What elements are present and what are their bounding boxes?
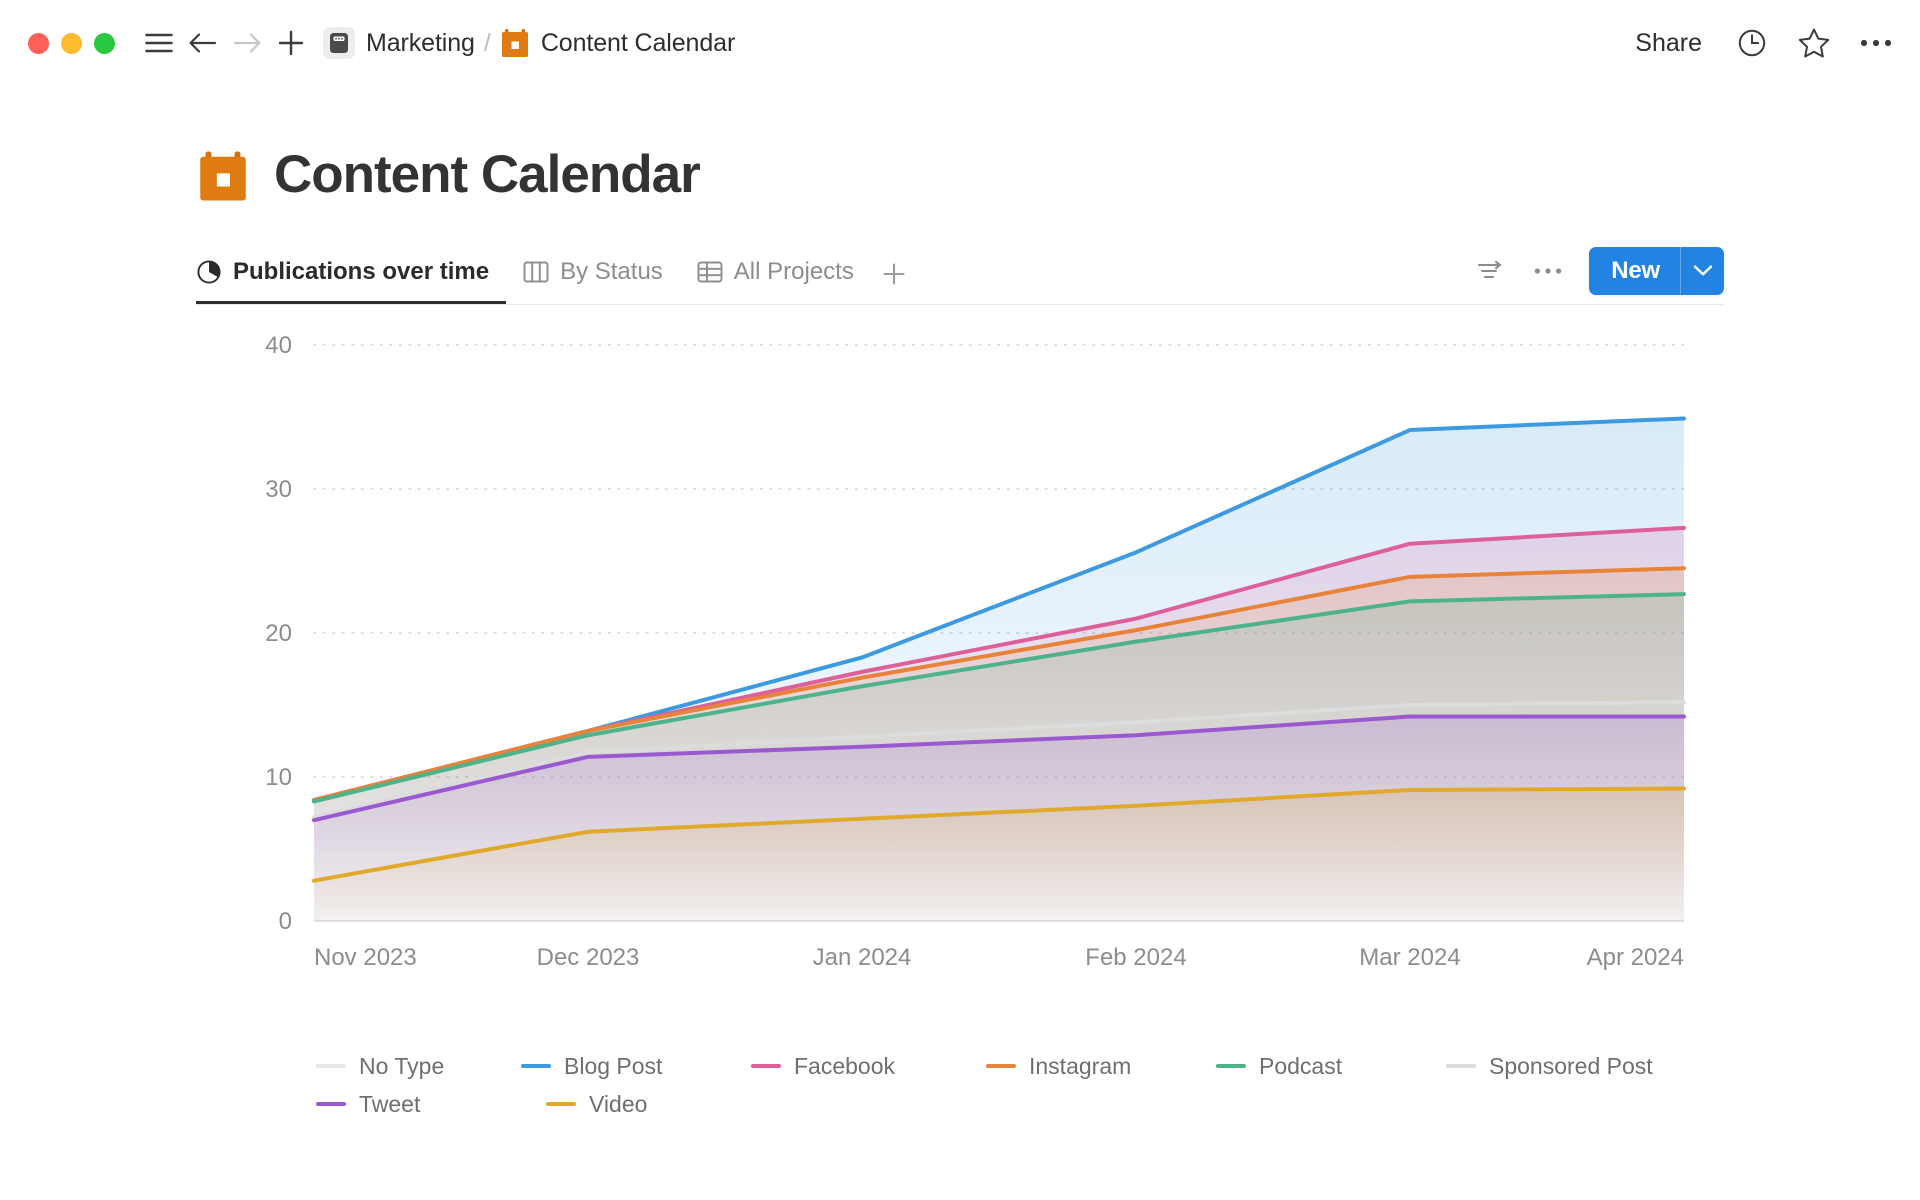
legend-swatch-tweet xyxy=(316,1102,346,1106)
breadcrumb: Marketing / Content Calendar xyxy=(323,27,735,59)
breadcrumb-item-marketing[interactable]: Marketing xyxy=(323,27,475,59)
legend-swatch-video xyxy=(546,1102,576,1106)
svg-text:0: 0 xyxy=(279,908,292,935)
svg-text:Apr 2024: Apr 2024 xyxy=(1587,944,1684,971)
tab-all-projects[interactable]: All Projects xyxy=(680,243,871,304)
legend-item-instagram[interactable]: Instagram xyxy=(986,1047,1216,1085)
legend-item-no-type[interactable]: No Type xyxy=(316,1047,521,1085)
legend-label-podcast: Podcast xyxy=(1259,1053,1342,1080)
tab-label-publications-over-time: Publications over time xyxy=(233,258,489,286)
ellipsis-icon[interactable] xyxy=(1858,25,1894,61)
clock-icon[interactable] xyxy=(1734,25,1770,61)
legend-item-blog-post[interactable]: Blog Post xyxy=(521,1047,751,1085)
legend-label-video: Video xyxy=(589,1091,647,1118)
legend-swatch-instagram xyxy=(986,1064,1016,1068)
titlebar-actions: Share xyxy=(1629,25,1894,62)
add-view-plus-icon[interactable] xyxy=(871,243,917,304)
forward-arrow-icon[interactable] xyxy=(225,21,269,65)
legend-swatch-facebook xyxy=(751,1064,781,1068)
legend-item-tweet[interactable]: Tweet xyxy=(316,1085,546,1123)
chart-pie-icon xyxy=(196,259,222,285)
share-button[interactable]: Share xyxy=(1629,25,1708,62)
page-header: Content Calendar xyxy=(0,86,1920,205)
chart-container: 010203040Nov 2023Dec 2023Jan 2024Feb 202… xyxy=(196,331,1724,1123)
legend-swatch-sponsored-post xyxy=(1446,1064,1476,1068)
svg-text:Feb 2024: Feb 2024 xyxy=(1085,944,1186,971)
tab-label-by-status: By Status xyxy=(560,258,663,286)
svg-text:Dec 2023: Dec 2023 xyxy=(537,944,640,971)
workspace-icon xyxy=(323,27,355,59)
legend-item-facebook[interactable]: Facebook xyxy=(751,1047,986,1085)
zoom-window-button[interactable] xyxy=(94,33,115,54)
calendar-emoji xyxy=(196,148,250,202)
breadcrumb-separator: / xyxy=(484,29,491,58)
svg-text:Nov 2023: Nov 2023 xyxy=(314,944,417,971)
window-titlebar: Marketing / Content Calendar Share xyxy=(0,0,1920,86)
sidebar-toggle-icon[interactable] xyxy=(137,21,181,65)
svg-text:30: 30 xyxy=(265,476,292,503)
breadcrumb-item-content-calendar[interactable]: Content Calendar xyxy=(500,27,735,59)
close-window-button[interactable] xyxy=(28,33,49,54)
filter-icon[interactable] xyxy=(1473,254,1507,288)
new-button[interactable]: New xyxy=(1589,247,1680,295)
legend-label-no-type: No Type xyxy=(359,1053,444,1080)
legend-swatch-podcast xyxy=(1216,1064,1246,1068)
legend-item-sponsored-post[interactable]: Sponsored Post xyxy=(1446,1047,1651,1085)
table-icon xyxy=(697,260,723,284)
board-icon xyxy=(523,260,549,284)
breadcrumb-label-marketing: Marketing xyxy=(366,29,475,58)
legend-label-blog-post: Blog Post xyxy=(564,1053,662,1080)
view-tab-bar: Publications over time By Status All Pro… xyxy=(196,243,1724,305)
view-actions: New xyxy=(1473,243,1724,304)
legend-label-instagram: Instagram xyxy=(1029,1053,1131,1080)
svg-text:10: 10 xyxy=(265,764,292,791)
calendar-emoji xyxy=(500,27,530,59)
svg-text:40: 40 xyxy=(265,332,292,359)
page-body: Content Calendar Publications over time … xyxy=(0,86,1920,1123)
legend-swatch-no-type xyxy=(316,1064,346,1068)
tab-publications-over-time[interactable]: Publications over time xyxy=(196,243,506,304)
chevron-down-icon[interactable] xyxy=(1680,247,1724,295)
breadcrumb-label-content-calendar: Content Calendar xyxy=(541,29,735,58)
chart-x-axis-labels: Nov 2023Dec 2023Jan 2024Feb 2024Mar 2024… xyxy=(314,944,1684,971)
legend-label-facebook: Facebook xyxy=(794,1053,895,1080)
svg-text:Mar 2024: Mar 2024 xyxy=(1359,944,1460,971)
view-tabs: Publications over time By Status All Pro… xyxy=(196,243,917,304)
chart-legend: No TypeBlog PostFacebookInstagramPodcast… xyxy=(316,1047,1696,1123)
legend-swatch-blog-post xyxy=(521,1064,551,1068)
view-more-ellipsis-icon[interactable] xyxy=(1531,254,1565,288)
svg-text:20: 20 xyxy=(265,620,292,647)
tab-by-status[interactable]: By Status xyxy=(506,243,680,304)
tab-label-all-projects: All Projects xyxy=(734,258,854,286)
legend-item-podcast[interactable]: Podcast xyxy=(1216,1047,1446,1085)
new-button-group: New xyxy=(1589,247,1724,295)
star-icon[interactable] xyxy=(1796,25,1832,61)
back-arrow-icon[interactable] xyxy=(181,21,225,65)
plus-icon[interactable] xyxy=(269,21,313,65)
minimize-window-button[interactable] xyxy=(61,33,82,54)
legend-label-tweet: Tweet xyxy=(359,1091,420,1118)
legend-label-sponsored-post: Sponsored Post xyxy=(1489,1053,1653,1080)
svg-text:Jan 2024: Jan 2024 xyxy=(813,944,912,971)
publications-over-time-area-chart[interactable]: 010203040Nov 2023Dec 2023Jan 2024Feb 202… xyxy=(196,331,1724,1031)
traffic-lights xyxy=(28,33,115,54)
legend-item-video[interactable]: Video xyxy=(546,1085,781,1123)
page-title: Content Calendar xyxy=(274,144,700,205)
